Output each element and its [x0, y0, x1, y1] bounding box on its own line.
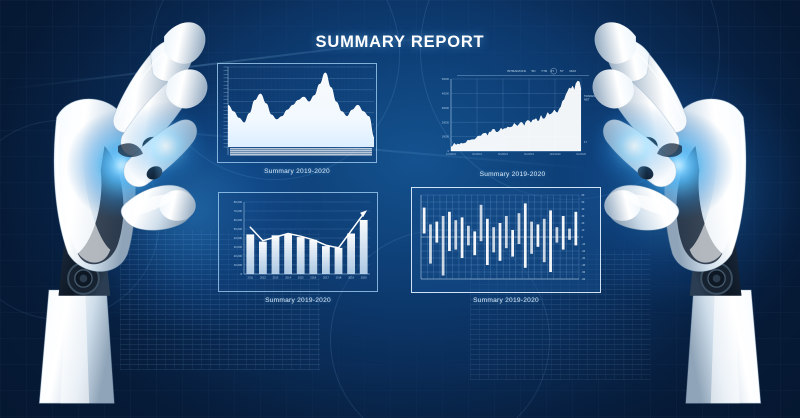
robot-hand-right — [590, 22, 761, 403]
robot-hands-layer — [0, 0, 800, 418]
dashboard-scene: SUMMARY REPORT Summary 2019-2020 INTRADA… — [0, 0, 800, 418]
robot-hand-left — [39, 22, 210, 403]
